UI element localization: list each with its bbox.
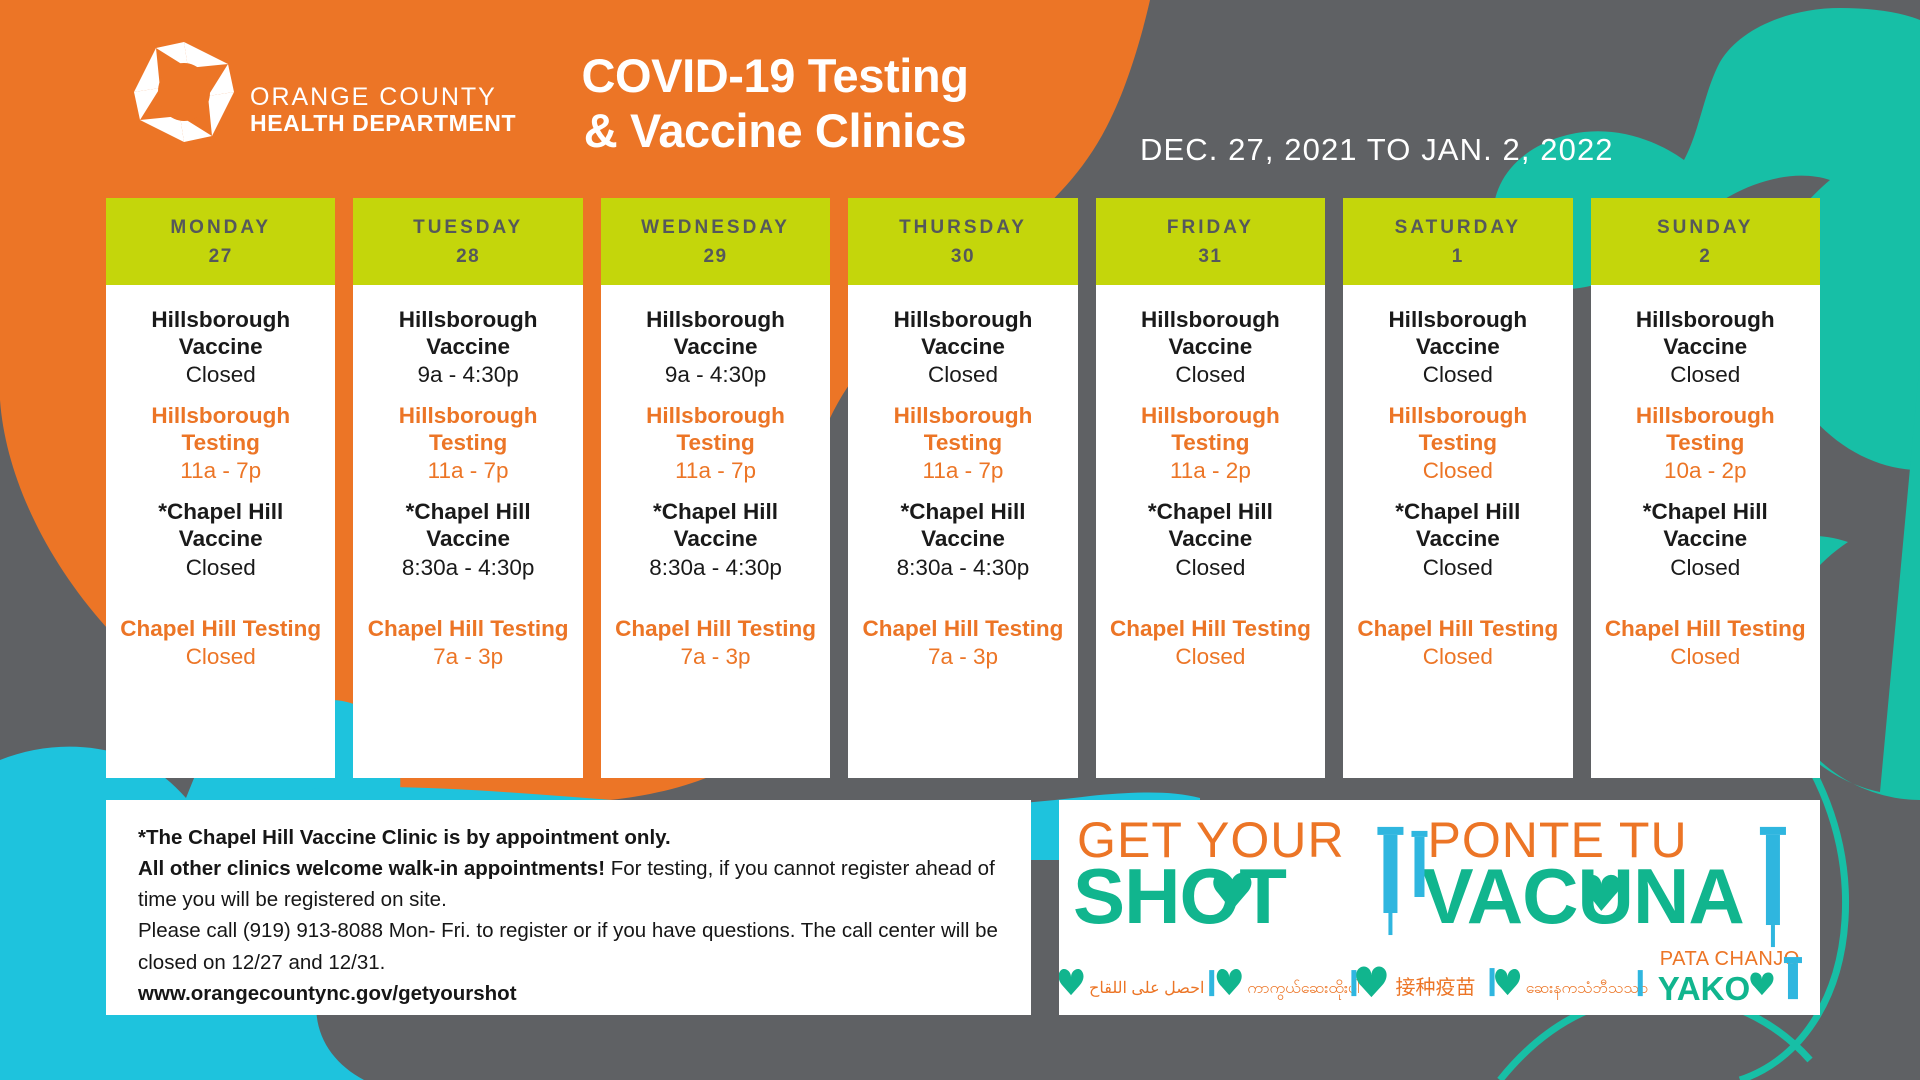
clinic-name: Hillsborough Testing [1351,403,1564,456]
clinic-entry: Hillsborough Testing11a - 7p [361,403,574,485]
promo-sw-line2: YAKO [1658,971,1750,1008]
clinic-name: Hillsborough Vaccine [856,307,1069,360]
day-entries: Hillsborough VaccineClosedHillsborough T… [1343,285,1572,778]
clinic-name: *Chapel Hill Vaccine [856,499,1069,552]
clinic-entry: Hillsborough VaccineClosed [856,307,1069,389]
clinic-entry: *Chapel Hill VaccineClosed [1599,499,1812,581]
clinic-hours: Closed [1104,361,1317,389]
clinic-name: Hillsborough Vaccine [1599,307,1812,360]
clinic-hours: Closed [1599,554,1812,582]
clinic-entry: Chapel Hill TestingClosed [1351,616,1564,672]
clinic-name: Chapel Hill Testing [609,616,822,643]
promo-sw-line1: PATA CHANJO [1660,948,1800,970]
translation-arabic: احصل على اللقاح [1089,979,1204,997]
clinic-hours: Closed [1351,457,1564,485]
day-name: SATURDAY [1347,214,1568,243]
day-entries: Hillsborough VaccineClosedHillsborough T… [1096,285,1325,778]
weekly-schedule: MONDAY27Hillsborough VaccineClosedHillsb… [106,198,1820,778]
clinic-entry: Chapel Hill Testing7a - 3p [856,616,1069,672]
org-name-line1: ORANGE COUNTY [250,84,516,110]
clinic-entry: *Chapel Hill VaccineClosed [1351,499,1564,581]
clinic-hours: 7a - 3p [609,643,822,671]
clinic-entry: Hillsborough Testing11a - 7p [609,403,822,485]
clinic-entry: Hillsborough VaccineClosed [1599,307,1812,389]
day-number: 28 [357,243,578,272]
clinic-hours: 11a - 7p [856,457,1069,485]
day-column: SATURDAY1Hillsborough VaccineClosedHills… [1343,198,1572,778]
syringe-icon-3 [1760,827,1786,947]
day-header: TUESDAY28 [353,198,582,285]
page-title-line2: & Vaccine Clinics [505,103,1045,158]
org-name-line2: HEALTH DEPARTMENT [250,111,516,136]
org-logo: ORANGE COUNTY HEALTH DEPARTMENT [132,40,516,144]
clinic-hours: 9a - 4:30p [361,361,574,389]
clinic-name: *Chapel Hill Vaccine [361,499,574,552]
clinic-hours: 10a - 2p [1599,457,1812,485]
page-title: COVID-19 Testing & Vaccine Clinics [505,48,1045,159]
syringe-icon-1 [1377,827,1403,935]
notes-panel: *The Chapel Hill Vaccine Clinic is by ap… [106,800,1031,1015]
clinic-entry: Hillsborough Testing11a - 7p [114,403,327,485]
note-line-2: All other clinics welcome walk-in appoin… [138,853,1001,915]
clinic-hours: Closed [1351,554,1564,582]
clinic-entry: Hillsborough VaccineClosed [114,307,327,389]
day-column: MONDAY27Hillsborough VaccineClosedHillsb… [106,198,335,778]
clinic-entry: Hillsborough Vaccine9a - 4:30p [609,307,822,389]
day-column: TUESDAY28Hillsborough Vaccine9a - 4:30pH… [353,198,582,778]
clinic-name: Hillsborough Testing [1599,403,1812,456]
clinic-hours: 8:30a - 4:30p [856,554,1069,582]
day-name: THURSDAY [852,214,1073,243]
clinic-hours: Closed [1351,361,1564,389]
clinic-hours: 11a - 2p [1104,457,1317,485]
clinic-entry: Hillsborough Vaccine9a - 4:30p [361,307,574,389]
clinic-hours: Closed [1599,361,1812,389]
header: ORANGE COUNTY HEALTH DEPARTMENT COVID-19… [0,0,1920,200]
note-appointment-only: *The Chapel Hill Vaccine Clinic is by ap… [138,826,671,849]
day-name: WEDNESDAY [605,214,826,243]
day-header: FRIDAY31 [1096,198,1325,285]
clinic-entry: Hillsborough VaccineClosed [1351,307,1564,389]
day-name: FRIDAY [1100,214,1321,243]
footer: *The Chapel Hill Vaccine Clinic is by ap… [106,800,1820,1015]
clinic-name: *Chapel Hill Vaccine [114,499,327,552]
clinic-entry: Chapel Hill Testing7a - 3p [361,616,574,672]
translation-burmese: ဆေးနကသံဘီသသ၁ [1526,979,1648,1000]
clinic-name: *Chapel Hill Vaccine [1351,499,1564,552]
clinic-name: Hillsborough Vaccine [361,307,574,360]
clinic-name: Chapel Hill Testing [1104,616,1317,643]
clinic-name: Hillsborough Testing [1104,403,1317,456]
day-entries: Hillsborough VaccineClosedHillsborough T… [848,285,1077,778]
day-column: SUNDAY2Hillsborough VaccineClosedHillsbo… [1591,198,1820,778]
page-title-line1: COVID-19 Testing [505,48,1045,103]
clinic-entry: *Chapel Hill Vaccine8:30a - 4:30p [361,499,574,581]
note-line-3: Please call (919) 913-8088 Mon- Fri. to … [138,915,1001,977]
day-number: 27 [110,243,331,272]
clinic-entry: Hillsborough VaccineClosed [1104,307,1317,389]
day-name: MONDAY [110,214,331,243]
clinic-name: Hillsborough Testing [361,403,574,456]
clinic-name: Hillsborough Testing [609,403,822,456]
clinic-entry: Chapel Hill TestingClosed [114,616,327,672]
clinic-name: Chapel Hill Testing [1599,616,1812,643]
clinic-name: Chapel Hill Testing [1351,616,1564,643]
clinic-entry: *Chapel Hill Vaccine8:30a - 4:30p [856,499,1069,581]
clinic-hours: Closed [1351,643,1564,671]
clinic-entry: Hillsborough TestingClosed [1351,403,1564,485]
clinic-entry: *Chapel Hill Vaccine8:30a - 4:30p [609,499,822,581]
day-header: THURSDAY30 [848,198,1077,285]
clinic-hours: 11a - 7p [361,457,574,485]
day-header: MONDAY27 [106,198,335,285]
day-header: WEDNESDAY29 [601,198,830,285]
clinic-entry: Chapel Hill Testing7a - 3p [609,616,822,672]
day-header: SUNDAY2 [1591,198,1820,285]
translations-row: احصل على اللقاح ကာကွယ်ဆေးထိုးပါ 接种疫苗 ဆေး… [1059,966,1648,1000]
day-number: 30 [852,243,1073,272]
clinic-name: *Chapel Hill Vaccine [1104,499,1317,552]
clinic-name: Chapel Hill Testing [114,616,327,643]
clinic-hours: Closed [1104,554,1317,582]
clinic-name: Hillsborough Vaccine [1351,307,1564,360]
clinic-name: *Chapel Hill Vaccine [1599,499,1812,552]
clinic-hours: 11a - 7p [609,457,822,485]
clinic-hours: 8:30a - 4:30p [609,554,822,582]
day-entries: Hillsborough VaccineClosedHillsborough T… [106,285,335,778]
promo-es-line2: VACUNA [1421,852,1743,940]
clinic-name: Hillsborough Testing [114,403,327,456]
translation-chinese: 接种疫苗 [1395,976,1475,999]
clinic-hours: 11a - 7p [114,457,327,485]
clinic-hours: Closed [114,361,327,389]
clinic-entry: Hillsborough Testing10a - 2p [1599,403,1812,485]
clinic-hours: Closed [114,554,327,582]
clinic-entry: Hillsborough Testing11a - 2p [1104,403,1317,485]
day-entries: Hillsborough Vaccine9a - 4:30pHillsborou… [353,285,582,778]
clinic-hours: Closed [856,361,1069,389]
clinic-name: Hillsborough Testing [856,403,1069,456]
day-header: SATURDAY1 [1343,198,1572,285]
clinic-hours: Closed [1599,643,1812,671]
clinic-entry: *Chapel Hill VaccineClosed [1104,499,1317,581]
org-logo-text: ORANGE COUNTY HEALTH DEPARTMENT [250,84,516,144]
promo-en-line2: SHOT [1073,852,1286,940]
infographic-canvas: ORANGE COUNTY HEALTH DEPARTMENT COVID-19… [0,0,1920,1080]
day-number: 31 [1100,243,1321,272]
note-line-1: *The Chapel Hill Vaccine Clinic is by ap… [138,822,1001,853]
clinic-hours: 7a - 3p [856,643,1069,671]
clinic-hours: Closed [114,643,327,671]
promo-artwork: GET YOUR SHOT PONTE TU VACUNA [1059,800,1820,1015]
clinic-hours: 8:30a - 4:30p [361,554,574,582]
day-number: 1 [1347,243,1568,272]
clinic-hours: Closed [1104,643,1317,671]
note-walkin-bold: All other clinics welcome walk-in appoin… [138,857,605,880]
clinic-hours: 7a - 3p [361,643,574,671]
get-your-shot-promo: GET YOUR SHOT PONTE TU VACUNA [1059,800,1820,1015]
clinic-name: Chapel Hill Testing [856,616,1069,643]
clinic-name: Hillsborough Vaccine [609,307,822,360]
day-name: SUNDAY [1595,214,1816,243]
day-entries: Hillsborough Vaccine9a - 4:30pHillsborou… [601,285,830,778]
day-entries: Hillsborough VaccineClosedHillsborough T… [1591,285,1820,778]
clinic-name: *Chapel Hill Vaccine [609,499,822,552]
clinic-name: Chapel Hill Testing [361,616,574,643]
clinic-entry: Hillsborough Testing11a - 7p [856,403,1069,485]
clinic-hours: 9a - 4:30p [609,361,822,389]
clinic-name: Hillsborough Vaccine [114,307,327,360]
clinic-entry: Chapel Hill TestingClosed [1599,616,1812,672]
day-number: 29 [605,243,826,272]
day-column: THURSDAY30Hillsborough VaccineClosedHill… [848,198,1077,778]
orange-county-logo-icon [132,40,236,144]
translation-karen: ကာကွယ်ဆေးထိုးပါ [1247,979,1360,1000]
heart-bandaid-icon-3 [1750,972,1773,995]
clinic-entry: Chapel Hill TestingClosed [1104,616,1317,672]
day-column: FRIDAY31Hillsborough VaccineClosedHillsb… [1096,198,1325,778]
day-column: WEDNESDAY29Hillsborough Vaccine9a - 4:30… [601,198,830,778]
website-link[interactable]: www.orangecountync.gov/getyourshot [138,978,1001,1011]
day-name: TUESDAY [357,214,578,243]
date-range: DEC. 27, 2021 TO JAN. 2, 2022 [1140,132,1614,168]
day-number: 2 [1595,243,1816,272]
clinic-name: Hillsborough Vaccine [1104,307,1317,360]
clinic-entry: *Chapel Hill VaccineClosed [114,499,327,581]
